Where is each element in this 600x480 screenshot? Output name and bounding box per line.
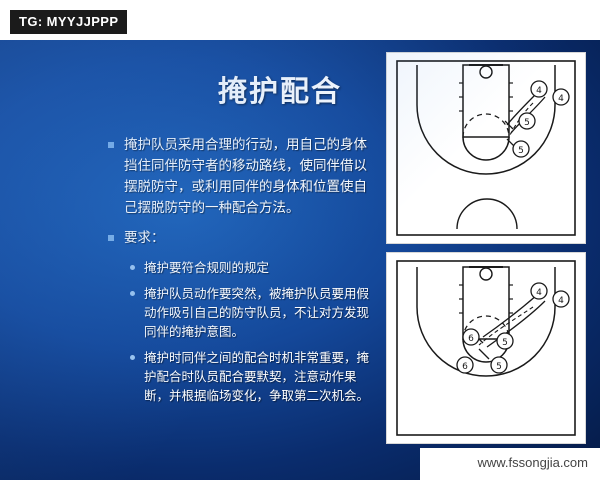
svg-text:4: 4: [558, 94, 564, 104]
top-bar: TG: MYYJJPPP: [0, 0, 600, 40]
court-diagram-top: 4 4 5 5: [386, 52, 586, 244]
svg-text:4: 4: [558, 296, 564, 306]
svg-text:5: 5: [524, 118, 530, 128]
bullet-level2: 掩护时同伴之间的配合时机非常重要，掩护配合时队员配合要默契，注意动作果断，并根据…: [128, 348, 378, 405]
page-title: 掩护配合: [130, 68, 430, 110]
bullet-level1: 掩护队员采用合理的行动，用自己的身体挡住同伴防守者的移动路线，使同伴借以摆脱防守…: [108, 135, 378, 219]
svg-text:5: 5: [502, 338, 508, 348]
svg-text:5: 5: [518, 146, 524, 156]
svg-text:6: 6: [468, 334, 474, 344]
slide-body: 掩护队员采用合理的行动，用自己的身体挡住同伴防守者的移动路线，使同伴借以摆脱防守…: [108, 135, 378, 412]
footer-watermark: www.fssongjia.com: [420, 448, 600, 480]
svg-text:4: 4: [536, 86, 542, 96]
svg-text:6: 6: [462, 362, 468, 372]
tg-tag: TG: MYYJJPPP: [10, 10, 127, 34]
bullet-level2: 掩护队员动作要突然，被掩护队员要用假动作吸引自己的防守队员，不让对方发现同伴的掩…: [128, 284, 378, 341]
slide: 掩护配合 掩护队员采用合理的行动，用自己的身体挡住同伴防守者的移动路线，使同伴借…: [0, 40, 600, 480]
svg-text:5: 5: [496, 362, 502, 372]
court-diagram-bottom: 4 4 6 5 6 5: [386, 252, 586, 444]
bullet-level1: 要求：: [108, 228, 378, 249]
bullet-level2: 掩护要符合规则的规定: [128, 258, 378, 277]
watermark-text: www.fssongjia.com: [477, 455, 588, 470]
svg-text:4: 4: [536, 288, 542, 298]
